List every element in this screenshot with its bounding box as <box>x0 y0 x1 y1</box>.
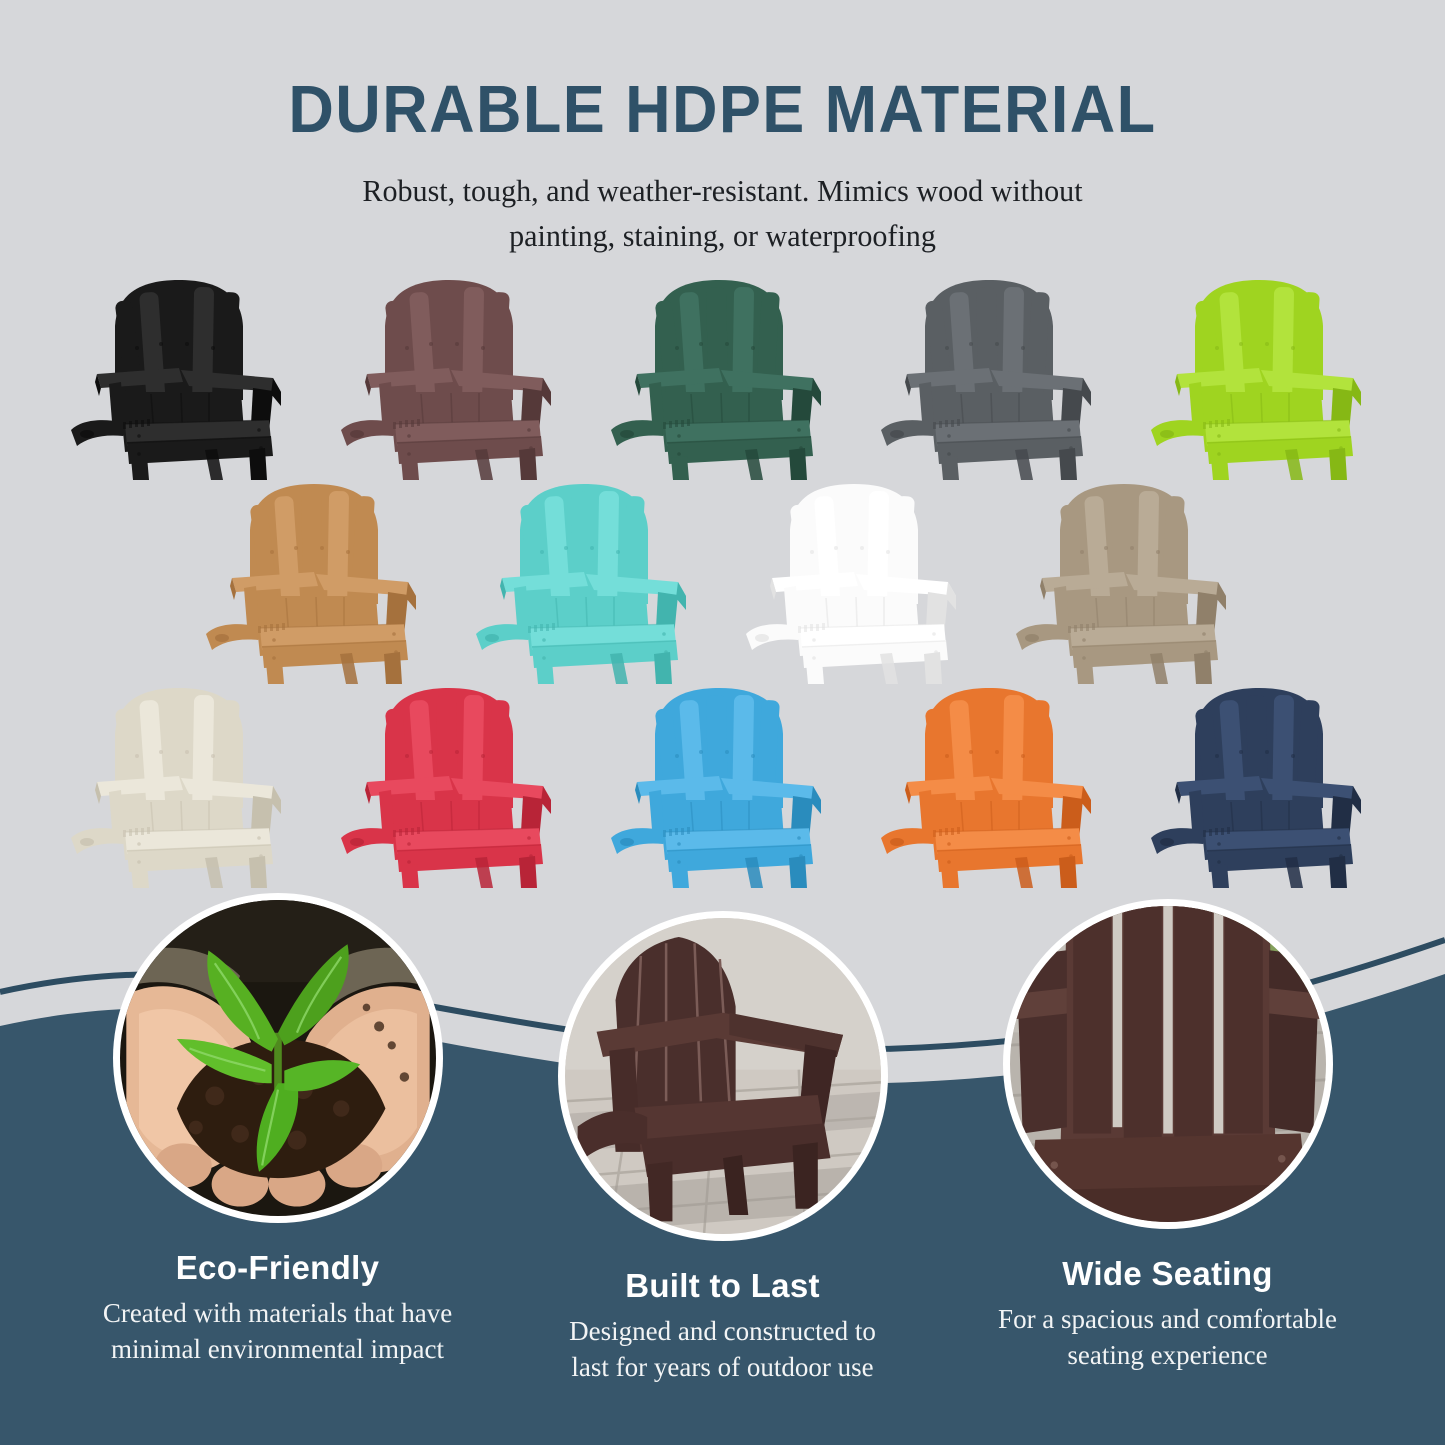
chair-swatch-brown[interactable] <box>331 268 575 480</box>
feature-description-line-1: Designed and constructed to <box>528 1314 918 1350</box>
feature-image-circle <box>1003 899 1333 1229</box>
chair-color-grid <box>0 268 1445 888</box>
adirondack-chair-icon <box>601 268 845 480</box>
chair-swatch-turquoise[interactable] <box>466 472 710 684</box>
brown-adirondack-chair-on-patio-photo <box>565 918 881 1234</box>
chair-swatch-teak[interactable] <box>196 472 440 684</box>
chair-swatch-orange[interactable] <box>871 676 1115 888</box>
subtitle-line-1: Robust, tough, and weather-resistant. Mi… <box>22 169 1424 214</box>
chair-swatch-navy-blue[interactable] <box>1141 676 1385 888</box>
adirondack-chair-icon <box>1141 676 1385 888</box>
feature-title: Built to Last <box>528 1267 918 1305</box>
feature-wide-seating: Wide SeatingFor a spacious and comfortab… <box>973 899 1363 1386</box>
adirondack-chair-icon <box>601 676 845 888</box>
adirondack-chair-icon <box>61 676 305 888</box>
feature-title: Wide Seating <box>973 1255 1363 1293</box>
adirondack-chair-icon <box>871 268 1115 480</box>
adirondack-chair-icon <box>736 472 980 684</box>
adirondack-chair-icon <box>1006 472 1250 684</box>
feature-description-line-2: minimal environmental impact <box>83 1332 473 1368</box>
adirondack-chair-icon <box>871 676 1115 888</box>
feature-description-line-2: seating experience <box>973 1338 1363 1374</box>
features-row: Eco-FriendlyCreated with materials that … <box>0 893 1445 1386</box>
adirondack-chair-icon <box>331 676 575 888</box>
page-subtitle: Robust, tough, and weather-resistant. Mi… <box>22 169 1424 259</box>
adirondack-chair-icon <box>196 472 440 684</box>
adirondack-chair-icon <box>466 472 710 684</box>
chair-swatch-gray[interactable] <box>871 268 1115 480</box>
feature-description: Designed and constructed tolast for year… <box>528 1314 918 1386</box>
adirondack-chair-icon <box>61 268 305 480</box>
chair-swatch-ivory[interactable] <box>61 676 305 888</box>
features-section: Eco-FriendlyCreated with materials that … <box>0 893 1445 1386</box>
page-title: DURABLE HDPE MATERIAL <box>43 76 1401 143</box>
adirondack-chair-icon <box>1141 268 1385 480</box>
chair-swatch-white[interactable] <box>736 472 980 684</box>
chair-back-slats-closeup-photo <box>1010 906 1326 1222</box>
feature-description-line-1: Created with materials that have <box>83 1296 473 1332</box>
feature-title: Eco-Friendly <box>83 1249 473 1287</box>
chair-swatch-dark-green[interactable] <box>601 268 845 480</box>
chair-row-1 <box>0 268 1445 480</box>
chair-swatch-red[interactable] <box>331 676 575 888</box>
chair-swatch-lime-green[interactable] <box>1141 268 1385 480</box>
feature-description: For a spacious and comfortableseating ex… <box>973 1302 1363 1374</box>
chair-swatch-light-blue[interactable] <box>601 676 845 888</box>
feature-built-to-last: Built to LastDesigned and constructed to… <box>528 911 918 1386</box>
adirondack-chair-icon <box>331 268 575 480</box>
chair-swatch-black[interactable] <box>61 268 305 480</box>
feature-description-line-1: For a spacious and comfortable <box>973 1302 1363 1338</box>
chair-swatch-weathered-wood[interactable] <box>1006 472 1250 684</box>
feature-description: Created with materials that haveminimal … <box>83 1296 473 1368</box>
chair-row-3 <box>0 676 1445 888</box>
feature-image-circle <box>558 911 888 1241</box>
feature-image-circle <box>113 893 443 1223</box>
chair-row-2 <box>0 472 1445 684</box>
feature-description-line-2: last for years of outdoor use <box>528 1350 918 1386</box>
hands-holding-seedling-photo <box>120 900 436 1216</box>
subtitle-line-2: painting, staining, or waterproofing <box>22 214 1424 259</box>
feature-eco-friendly: Eco-FriendlyCreated with materials that … <box>83 893 473 1386</box>
header: DURABLE HDPE MATERIAL Robust, tough, and… <box>0 0 1445 259</box>
